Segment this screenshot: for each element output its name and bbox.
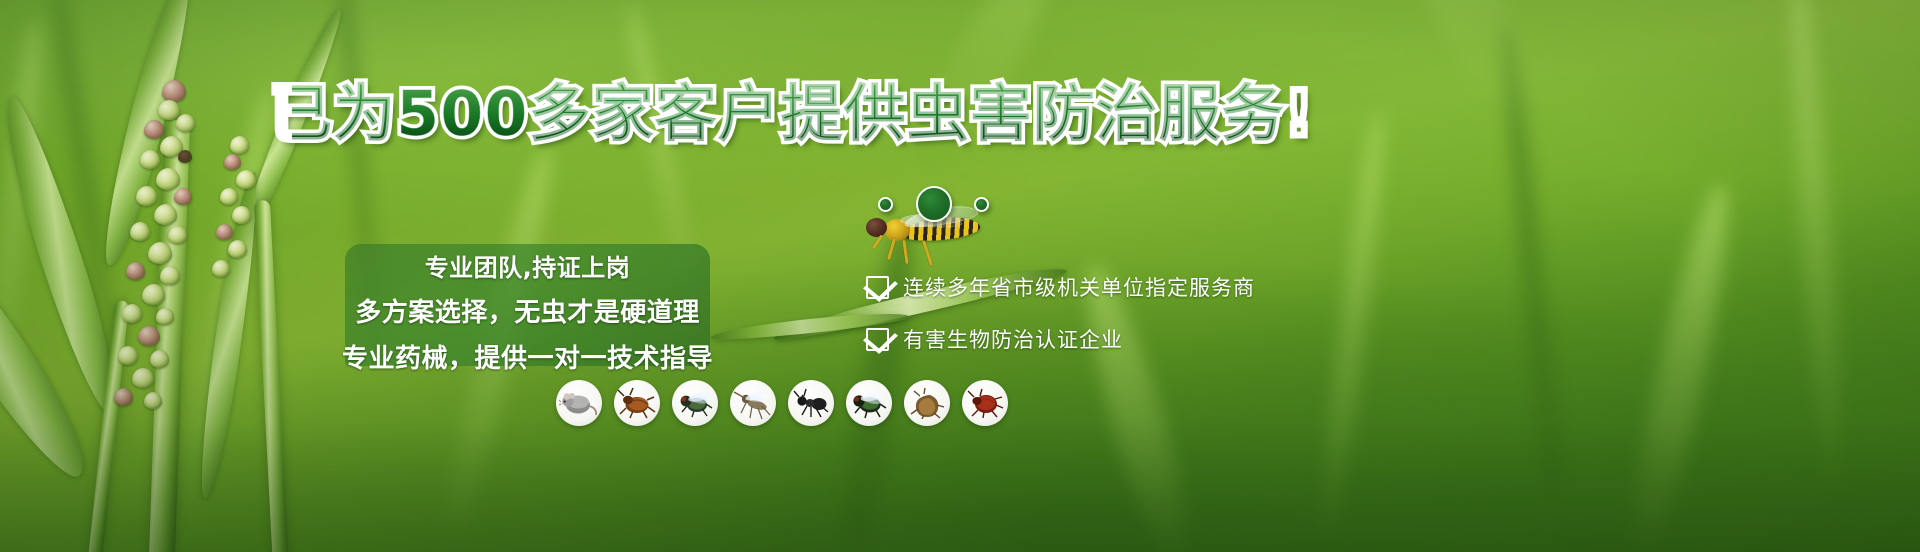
checkbox-check-icon (866, 276, 889, 299)
housefly-icon (846, 380, 892, 426)
decor-dot-large-center (916, 186, 952, 222)
credentials-list: 连续多年省市级机关单位指定服务商 有害生物防治认证企业 (866, 272, 1296, 354)
fly-icon (672, 380, 718, 426)
cockroach-icon (614, 380, 660, 426)
selling-points-panel: 专业团队,持证上岗 多方案选择，无虫才是硬道理 专业药械，提供一对一技术指导 (345, 244, 710, 366)
bottom-shade (0, 422, 1920, 552)
mouse-icon (556, 380, 602, 426)
checkbox-check-icon (866, 328, 889, 351)
bedbug-icon (962, 380, 1008, 426)
pest-icon-row (556, 380, 1008, 426)
ant-icon (788, 380, 834, 426)
list-item-label: 有害生物防治认证企业 (903, 324, 1123, 354)
flea-icon (904, 380, 950, 426)
list-item-label: 连续多年省市级机关单位指定服务商 (903, 272, 1255, 302)
headline: 已为500多家客户提供虫害防治服务! 已为500多家客户提供虫害防治服务! 已为… (292, 76, 1292, 152)
panel-line-3: 专业药械，提供一对一技术指导 (342, 338, 713, 375)
list-item: 连续多年省市级机关单位指定服务商 (866, 272, 1296, 302)
pest-control-hero-banner: 已为500多家客户提供虫害防治服务! 已为500多家客户提供虫害防治服务! 已为… (0, 0, 1920, 552)
list-item: 有害生物防治认证企业 (866, 324, 1296, 354)
headline-inner-highlight: 已为500多家客户提供虫害防治服务! (292, 76, 1292, 152)
mosquito-icon (730, 380, 776, 426)
panel-line-1: 专业团队,持证上岗 (425, 248, 631, 283)
panel-line-2: 多方案选择，无虫才是硬道理 (355, 292, 700, 329)
decor-dot-small-left (878, 197, 893, 212)
decor-dot-small-right (974, 197, 989, 212)
decorative-dots (878, 186, 1038, 222)
